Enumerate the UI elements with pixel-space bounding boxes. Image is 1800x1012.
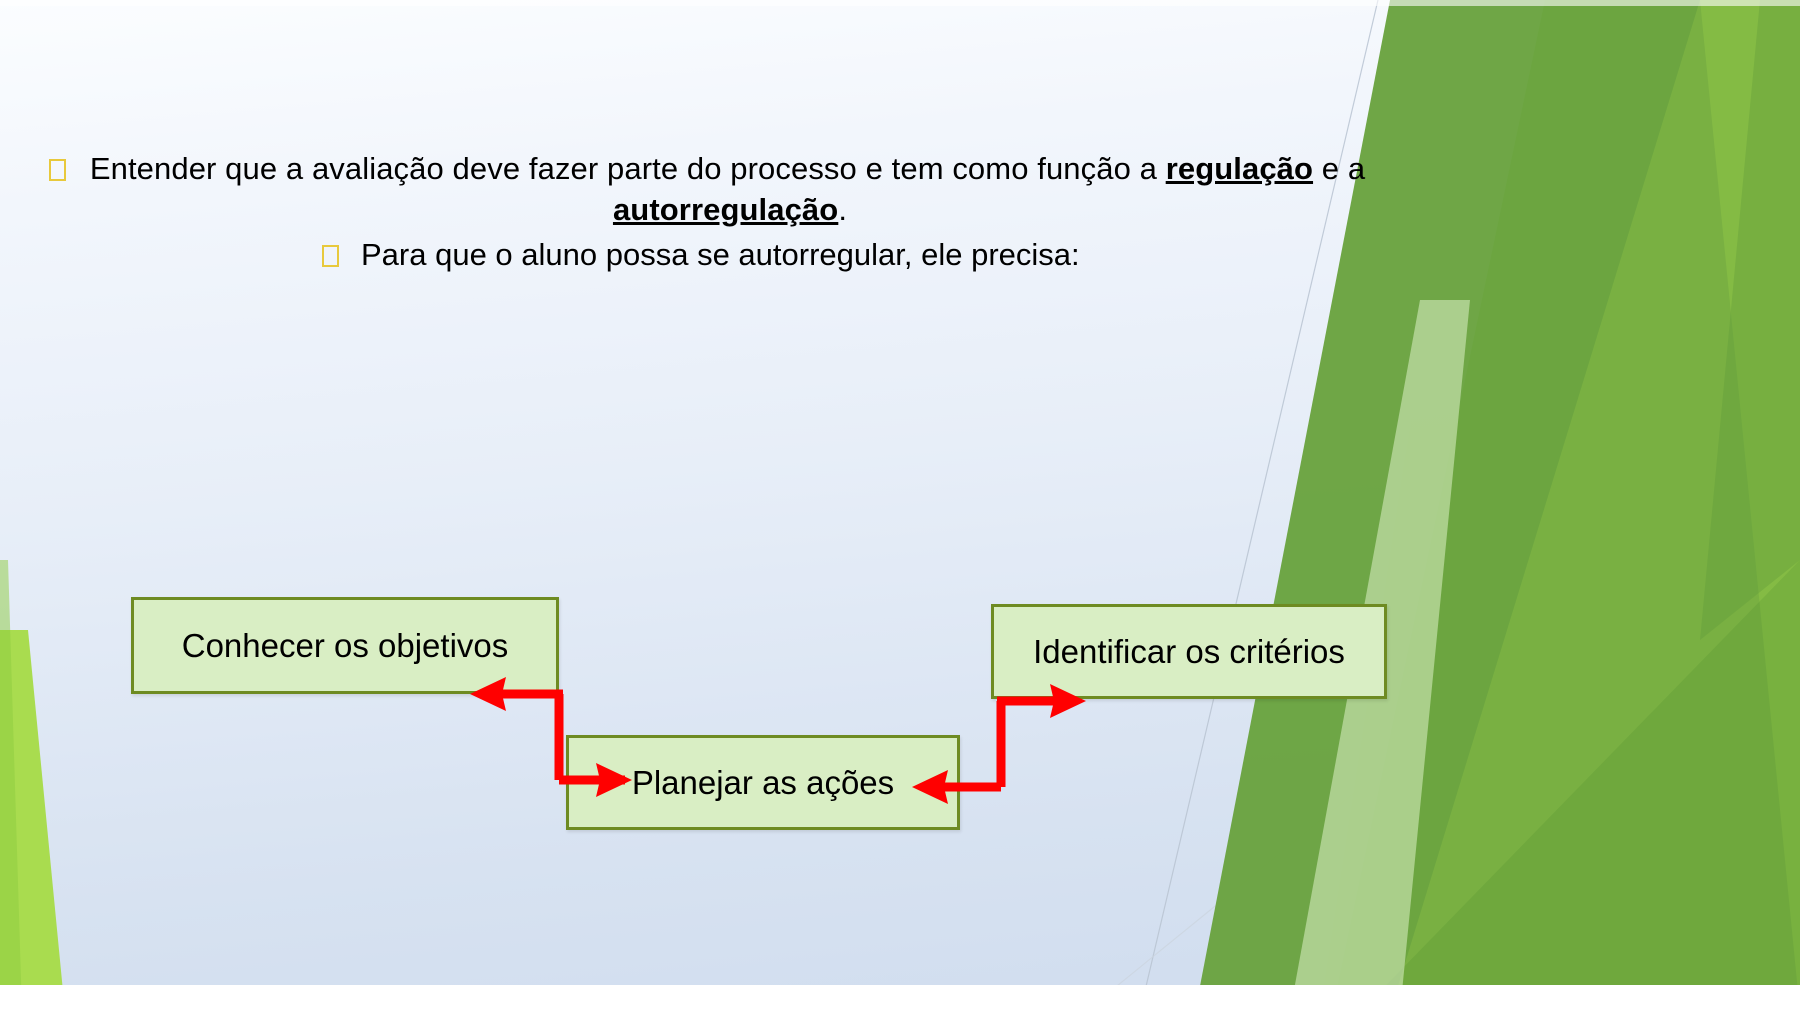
diagram-node-label: Planejar as ações (632, 764, 894, 802)
connector-planejar-to-objetivos[interactable] (460, 660, 610, 820)
diagram-node-label: Conhecer os objetivos (182, 627, 509, 665)
cycle-diagram: Conhecer os objetivos Identificar os cri… (0, 0, 1800, 1012)
presentation-slide: Entender que a avaliação deve fazer part… (0, 0, 1800, 1012)
arrowhead-right (1050, 684, 1086, 718)
arrowhead-left (470, 677, 506, 711)
connector-planejar-to-criterios[interactable] (940, 660, 1100, 820)
